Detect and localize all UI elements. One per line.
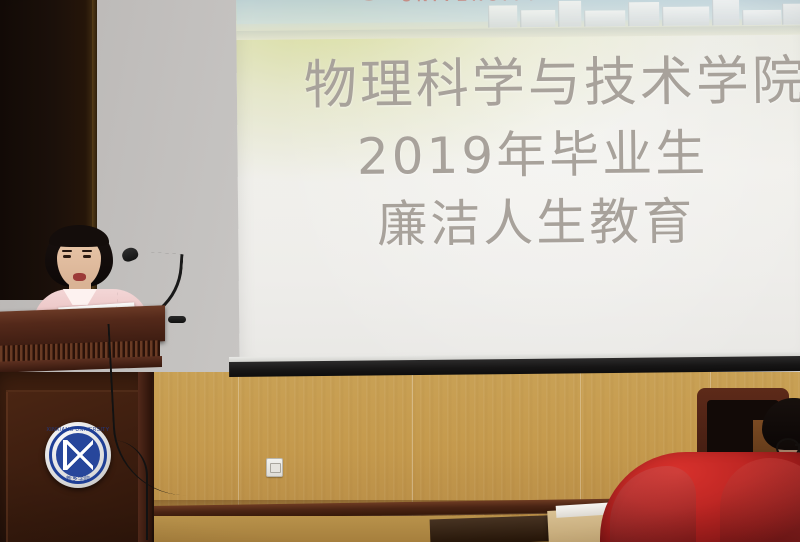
wall-power-outlet bbox=[266, 458, 283, 477]
projection-screen: UNIVERSITY 物理科学与技术学院 2019年毕业生 廉洁人生教育 bbox=[236, 0, 800, 370]
slide-line-2: 2019年毕业生 bbox=[255, 123, 800, 188]
slide-line-1: 物理科学与技术学院 bbox=[303, 51, 800, 118]
emblem-monogram-icon bbox=[63, 440, 93, 470]
speaker-eye bbox=[83, 255, 91, 258]
seat-highlight bbox=[720, 458, 800, 542]
speaker-fringe bbox=[49, 225, 109, 247]
speaker-mouth bbox=[73, 273, 86, 281]
slide-title-block: 物理科学与技术学院 2019年毕业生 廉洁人生教育 bbox=[237, 51, 800, 256]
emblem-chinese-name: 新乡学院 bbox=[45, 474, 111, 483]
speaker-eye bbox=[63, 255, 71, 258]
banner-road bbox=[236, 26, 800, 40]
slide-line-3: 廉洁人生教育 bbox=[262, 190, 800, 255]
university-emblem: XINXIANG UNIVERSITY 新乡学院 bbox=[45, 422, 111, 488]
emblem-english-name: XINXIANG UNIVERSITY bbox=[45, 427, 111, 433]
speaker-eyebrow bbox=[82, 250, 92, 252]
auditorium-photo: UNIVERSITY 物理科学与技术学院 2019年毕业生 廉洁人生教育 bbox=[0, 0, 800, 542]
speaker-eyebrow bbox=[62, 250, 72, 252]
slide-banner-photo: UNIVERSITY bbox=[236, 0, 800, 40]
